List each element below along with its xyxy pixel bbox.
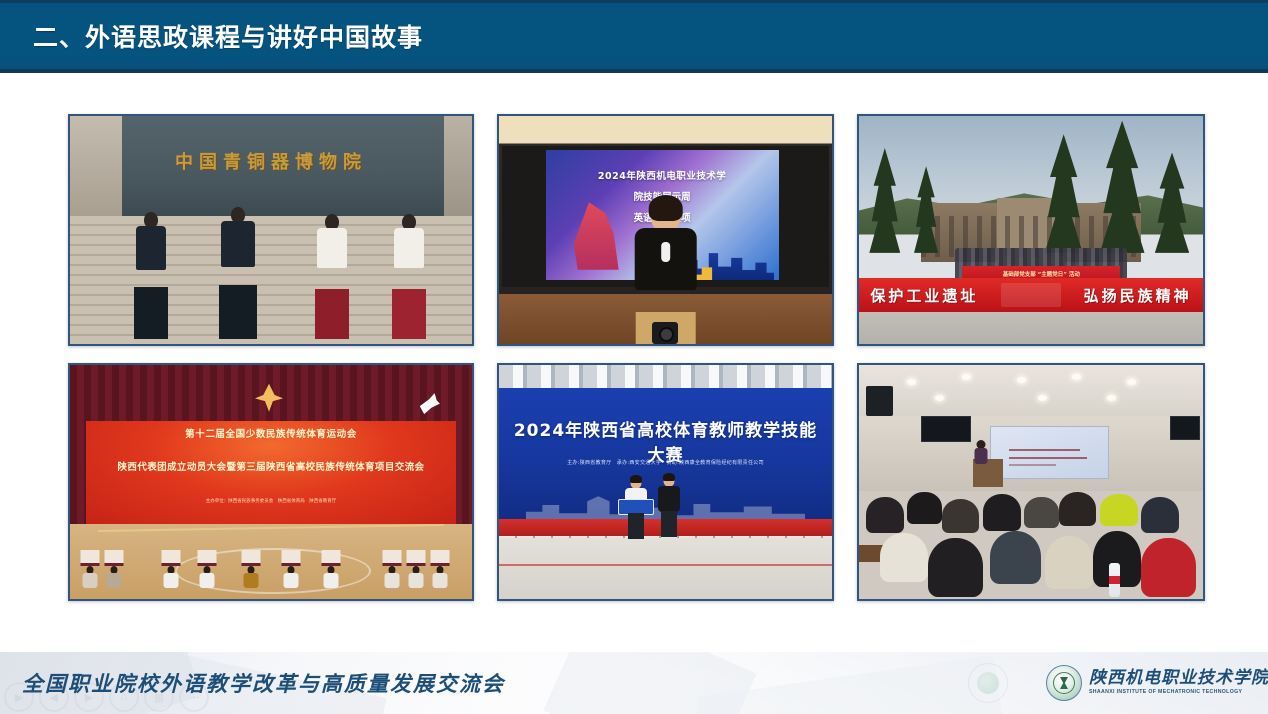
institute-logo: 陕西机电职业技术学院 SHAANXI INSTITUTE OF MECHATRO… xyxy=(1046,665,1268,701)
person-figure xyxy=(134,212,168,340)
photo-party-day-banner: 基础部党支部 “主题党日” 活动 保护工业遗址 弘扬民族精神 xyxy=(857,114,1205,346)
wall-monitor xyxy=(1170,416,1200,439)
banner-left-text: 保护工业遗址 xyxy=(870,285,978,306)
page-title: 二、外语思政课程与讲好中国故事 xyxy=(33,18,423,54)
presenter-figure xyxy=(973,440,990,468)
institute-name-en: SHAANXI INSTITUTE OF MECHATRONIC TECHNOL… xyxy=(1089,690,1268,695)
backdrop-line-1: 第十二届全国少数民族传统体育运动会 xyxy=(94,426,448,440)
photo-english-contest: 2024年陕西机电职业技术学 院技能展示周 英语口语赛项 基础部英语教研室 xyxy=(497,114,834,346)
backdrop-line-3: 主办单位：陕西省民族事务委员会 陕西省体育局 陕西省教育厅 xyxy=(142,498,399,505)
camera-device xyxy=(652,322,678,344)
slide-footer-bar: ▶ ◀ ▶ ⌂ ▦ ⋯ 全国职业院校外语教学改革与高质量发展交流会 陕西机电职业… xyxy=(0,652,1268,714)
backdrop-line-2: 陕西代表团成立动员大会暨第三届陕西省高校民族传统体育项目交流会 xyxy=(86,459,456,473)
person-figure xyxy=(392,214,426,339)
person-figure xyxy=(219,207,257,339)
museum-sign-text: 中国青铜器博物院 xyxy=(126,148,415,174)
photo-grid: 中国青铜器博物院 xyxy=(68,114,1207,601)
screen-line-1: 2024年陕西机电职业技术学 xyxy=(560,168,765,182)
banner-emblem-icon xyxy=(1001,283,1061,307)
banner-large: 保护工业遗址 弘扬民族精神 xyxy=(859,278,1203,312)
wall-monitor xyxy=(921,416,971,441)
speaker-box-icon xyxy=(866,386,894,416)
slide-header-bar: 二、外语思政课程与讲好中国故事 xyxy=(0,0,1268,73)
photo-pe-teaching-contest: 2024年陕西省高校体育教师教学技能大赛 主办:陕西省教育厅 承办:西安交通大学… xyxy=(497,363,834,601)
slide-root: 二、外语思政课程与讲好中国故事 中国青铜器博物院 xyxy=(0,0,1268,714)
secondary-logo-watermark xyxy=(968,663,1008,703)
institute-emblem-icon xyxy=(1046,665,1082,701)
water-bottle xyxy=(1109,563,1120,597)
audience-area xyxy=(859,477,1203,599)
photo-ethnic-sports: 第十二届全国少数民族传统体育运动会 陕西代表团成立动员大会暨第三届陕西省高校民族… xyxy=(68,363,474,601)
photo-bronze-museum: 中国青铜器博物院 xyxy=(68,114,474,346)
microphone-icon xyxy=(661,242,670,262)
institute-name-cn: 陕西机电职业技术学院 xyxy=(1089,670,1268,687)
footer-conference-title: 全国职业院校外语教学改革与高质量发展交流会 xyxy=(22,668,505,698)
person-figure xyxy=(315,214,349,339)
backdrop-subtitle: 主办:陕西省教育厅 承办:西安交通大学 赞助:陕西康全教育保险经纪有限责任公司 xyxy=(532,459,798,466)
banner-right-text: 弘扬民族精神 xyxy=(1084,285,1192,306)
photo-lecture-hall xyxy=(857,363,1205,601)
projection-screen xyxy=(990,426,1109,479)
